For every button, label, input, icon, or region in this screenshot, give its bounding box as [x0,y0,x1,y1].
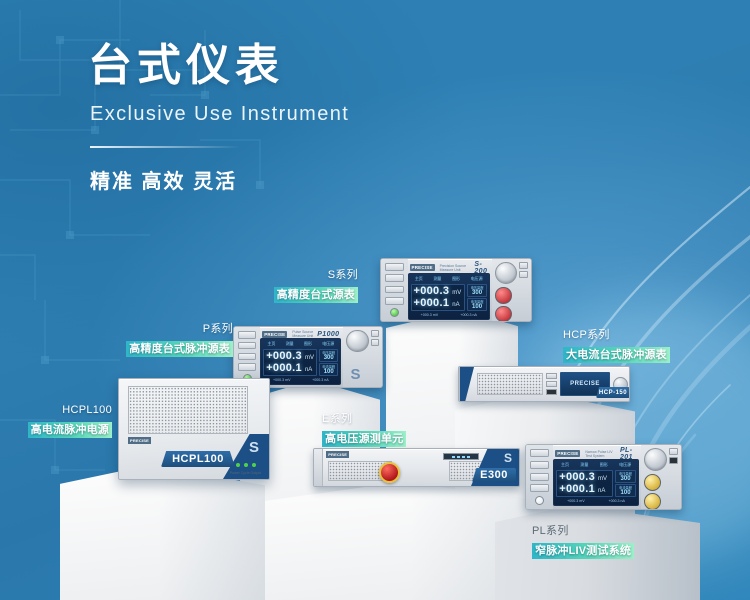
range-value: 300 [621,476,631,482]
display-tab[interactable]: 测量 [433,276,441,282]
display-tabs[interactable]: 主页 测量 图形 电压源 [410,275,489,283]
usb-port[interactable] [546,389,557,395]
footer-setpoint-voltage: +000.3 mV [273,378,290,382]
series-description: 高电压源测单元 [322,431,406,448]
voltage-unit: mV [598,476,607,482]
banner-stage: 台式仪表 Exclusive Use Instrument 精准 高效 灵活 [0,0,750,600]
pl-series-display[interactable]: 主页 测量 图形 电压源 +000.3 mV +000.1 nA [553,459,639,506]
softkey[interactable] [530,461,549,469]
softkey[interactable] [530,473,549,481]
voltage-reading: +000.3 [414,286,450,297]
label-p-series: P系列 高精度台式脉冲源表 [118,322,233,358]
p-series-display[interactable]: 主页 测量 图形 电压源 +000.3 mV +000.1 nA [260,338,341,385]
display-tab[interactable]: 电压源 [619,462,631,468]
voltage-reading: +000.3 [559,472,595,483]
brand-logo: PRECISE [128,437,151,444]
brand-logo: PRECISE [326,451,349,458]
display-footer: +000.3 mV +000.3 nA [410,312,489,318]
status-led-group [236,463,256,467]
primary-readout-panel: +000.3 mV +000.1 nA [263,349,317,376]
range-box-current: 电流量程 100 [467,298,487,311]
chassis-feet [119,479,269,480]
model-plate: E300 [472,468,516,482]
pl-series-brandbar: PRECISE Narrow Pulse LIV Test System PL-… [553,448,639,459]
footer-setpoint-current: +000.3 nA [312,378,329,382]
current-unit: nA [305,367,312,373]
range-value: 300 [472,290,482,296]
usb-port[interactable] [519,271,528,278]
label-hcp-series: HCP系列 大电流台式脉冲源表 [563,328,703,364]
rotary-knob[interactable] [346,330,368,352]
instrument-e-series[interactable]: PRECISE S E300 [313,448,520,487]
softkey[interactable] [238,363,256,371]
display-tab[interactable]: 测量 [286,341,294,347]
front-panel-accent [460,367,474,401]
instrument-pl-series[interactable]: PRECISE Narrow Pulse LIV Test System PL-… [525,444,682,510]
vendor-swirl-logo: S [504,451,512,465]
softkey[interactable] [530,449,549,457]
vendor-swirl-logo: S [249,439,259,456]
banner-header: 台式仪表 Exclusive Use Instrument 精准 高效 灵活 [88,40,608,194]
model-subtitle: Pulse Source Measure Unit [292,330,314,338]
model-plate: HCP-150 [596,387,630,398]
current-unit: nA [452,302,459,308]
range-value: 100 [621,490,631,496]
display-tab[interactable]: 主页 [561,462,569,468]
model-subtitle: Precision Source Measure Unit [440,264,472,272]
series-description: 高精度台式脉冲源表 [126,341,233,358]
current-reading: +000.1 [266,363,302,374]
softkey[interactable] [385,263,404,271]
screen-brand-text: PRECISE [570,381,600,387]
series-name: E系列 [322,412,452,427]
series-name: PL系列 [532,524,682,539]
pl-series-controls[interactable] [641,445,681,509]
display-footer: +000.3 mV +000.3 nA [555,498,637,504]
instrument-s-series[interactable]: PRECISE Precision Source Measure Unit S-… [380,258,532,322]
softkey[interactable] [238,331,256,339]
display-tab[interactable]: 电压源 [322,341,334,347]
display-tab[interactable]: 主页 [415,276,423,282]
led-caption: Power Cycle Output [230,471,261,475]
rotary-knob[interactable] [644,448,667,471]
vendor-swirl-logo: S [350,366,360,383]
page-subtitle-cn: 精准 高效 灵活 [90,165,608,194]
range-value: 100 [324,369,334,375]
label-s-series: S系列 高精度台式源表 [238,268,358,304]
series-name: S系列 [238,268,358,283]
primary-readout-panel: +000.3 mV +000.1 nA [556,470,613,497]
display-tab[interactable]: 图形 [304,341,312,347]
control-button[interactable] [669,448,678,455]
p-series-brandbar: PRECISE Pulse Source Measure Unit P1000 [260,330,341,338]
instrument-hcp-series[interactable]: PRECISE HCP-150 [458,366,630,402]
power-led-indicator [535,496,544,505]
brand-logo: PRECISE [555,450,580,457]
pedestal-hcpl100 [60,465,265,600]
display-tab[interactable]: 主页 [267,341,275,347]
range-box-voltage: 电压量程 300 [467,284,487,297]
series-name: P系列 [118,322,233,337]
display-tabs[interactable]: 主页 测量 图形 电压源 [555,461,637,469]
current-unit: nA [598,488,605,494]
series-description: 高精度台式源表 [274,287,358,304]
terminal-output[interactable] [644,493,661,510]
softkey[interactable] [238,342,256,350]
emergency-stop-button[interactable] [379,462,400,483]
series-description: 高电流脉冲电源 [28,422,112,439]
led-bar-indicator [443,453,479,460]
page-title-en: Exclusive Use Instrument [90,103,608,126]
series-description: 窄脉冲LIV测试系统 [532,543,634,560]
output-terminals[interactable] [644,474,678,510]
model-subtitle: Narrow Pulse LIV Test System [585,450,617,458]
label-hcpl100: HCPL100 高电流脉冲电源 [0,403,112,439]
label-pl-series: PL系列 窄脉冲LIV测试系统 [532,524,682,560]
softkey[interactable] [385,286,404,294]
rack-feet [314,486,519,487]
current-reading: +000.1 [414,298,450,309]
s-series-display[interactable]: 主页 测量 图形 电压源 +000.3 mV +000.1 nA [408,273,491,320]
voltage-unit: mV [305,355,314,361]
s-series-brandbar: PRECISE Precision Source Measure Unit S-… [408,262,491,273]
title-divider [90,146,240,148]
series-name: HCPL100 [0,403,112,418]
display-footer: +000.3 mV +000.3 nA [262,377,339,383]
series-description: 大电流台式脉冲源表 [563,347,670,364]
display-tab[interactable]: 电压源 [471,276,483,282]
model-name: P1000 [317,331,339,338]
rack-feet [459,401,629,402]
display-tab[interactable]: 图形 [600,462,608,468]
model-plate: HCPL100 [161,451,235,467]
output-terminals[interactable] [495,287,528,322]
softkey[interactable] [238,353,256,361]
primary-readout-panel: +000.3 mV +000.1 nA [411,284,466,311]
power-led-indicator [390,308,399,317]
s-series-controls[interactable] [492,259,531,321]
brand-logo: PRECISE [410,264,435,271]
softkey[interactable] [385,297,404,305]
softkey[interactable] [385,274,404,282]
control-button[interactable] [519,262,528,269]
label-e-series: E系列 高电压源测单元 [322,412,452,448]
range-value: 300 [324,355,334,361]
control-button[interactable] [371,330,379,337]
terminal-output[interactable] [644,474,661,491]
p-series-controls[interactable]: S [343,327,382,387]
ventilation-mesh [477,373,543,395]
s-series-softkeys[interactable] [381,259,408,321]
voltage-reading: +000.3 [266,351,302,362]
terminal-positive[interactable] [495,306,512,322]
range-value: 100 [472,304,482,310]
display-tab[interactable]: 图形 [452,276,460,282]
range-box-voltage: 电压量程 300 [615,470,636,483]
series-name: HCP系列 [563,328,703,343]
pl-series-softkeys[interactable] [526,445,553,509]
display-tab[interactable]: 测量 [580,462,588,468]
range-box-current: 电流量程 100 [319,363,339,376]
footer-setpoint-voltage: +000.3 mV [421,313,438,317]
voltage-unit: mV [452,290,461,296]
rotary-knob[interactable] [495,262,517,284]
brand-logo: PRECISE [262,331,287,338]
ventilation-mesh-top [128,386,248,434]
range-box-voltage: 电压量程 300 [319,349,339,362]
usb-port[interactable] [371,339,379,346]
footer-setpoint-current: +000.3 nA [608,499,625,503]
display-tabs[interactable]: 主页 测量 图形 电压源 [262,340,339,348]
usb-port[interactable] [669,457,678,464]
rack-ear-left [314,449,323,486]
footer-setpoint-current: +000.3 nA [460,313,477,317]
terminal-positive[interactable] [495,287,512,304]
instrument-hcpl100[interactable]: PRECISE S HCPL100 Power Cycle Output [118,378,270,480]
softkey[interactable] [530,484,549,492]
current-reading: +000.1 [559,484,595,495]
range-box-current: 电流量程 100 [615,484,636,497]
page-title-cn: 台式仪表 [88,40,608,92]
footer-setpoint-voltage: +000.3 mV [567,499,584,503]
